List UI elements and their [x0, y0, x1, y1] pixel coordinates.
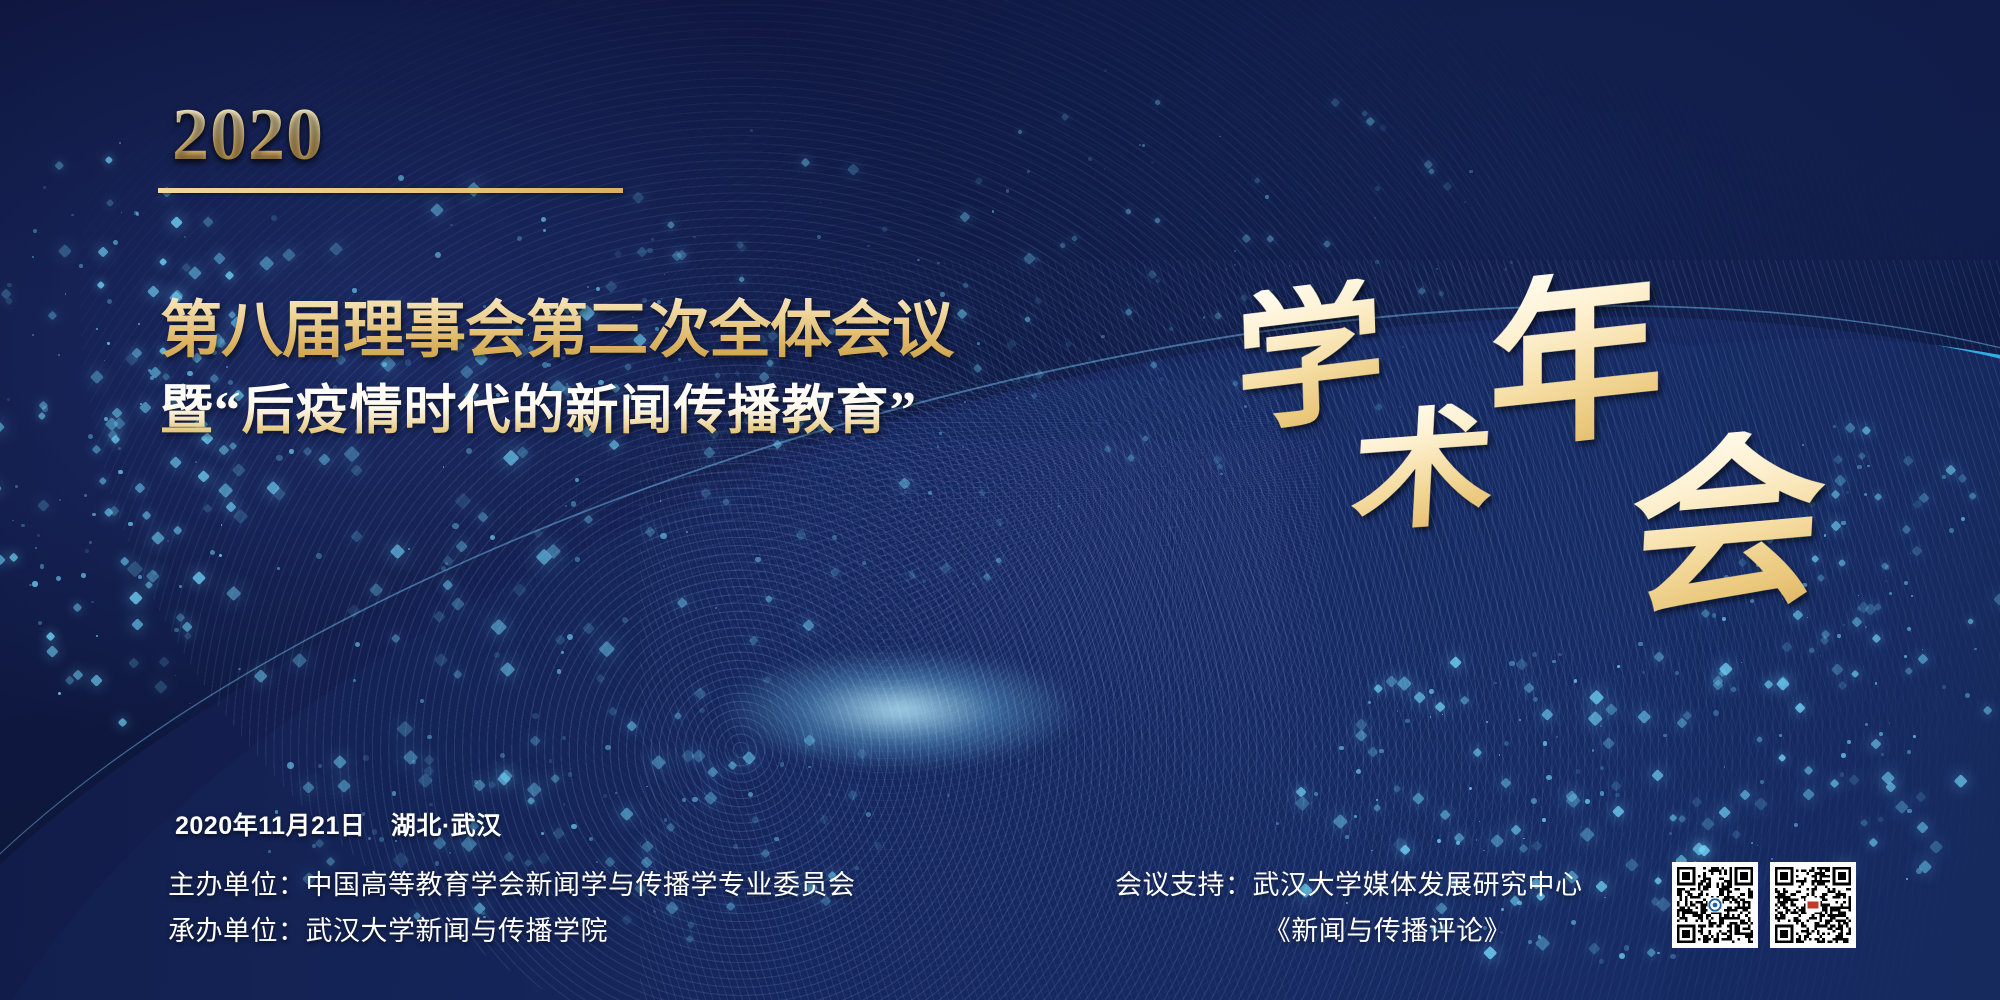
organizer-host-row: 主办单位：中国高等教育学会新闻学与传播学专业委员会	[168, 862, 856, 908]
gold-divider	[158, 188, 623, 193]
support-line-2: 《新闻与传播评论》	[1115, 908, 1660, 954]
calligraphy-char-shu: 术	[1348, 400, 1497, 541]
title-line-2: 第八届理事会第三次全体会议	[160, 295, 1400, 368]
qr-code-group	[1672, 862, 1856, 948]
qr-code-journal[interactable]	[1770, 862, 1856, 948]
calligraphy-block: 学 术 年 会	[1235, 285, 1795, 645]
organizer-info: 主办单位：中国高等教育学会新闻学与传播学专业委员会 承办单位：武汉大学新闻与传播…	[168, 862, 856, 955]
support-info: 会议支持：武汉大学媒体发展研究中心 《新闻与传播评论》	[1115, 862, 1660, 955]
title-line-1: 中国高等教育学会新闻学与传播学专业委员会	[160, 212, 1381, 285]
title-line-3: 暨“后疫情时代的新闻传播教育”	[160, 382, 917, 440]
conference-banner: 2020 中国高等教育学会新闻学与传播学专业委员会 第八届理事会第三次全体会议 …	[0, 0, 2000, 1000]
page-title: 中国高等教育学会新闻学与传播学专业委员会 第八届理事会第三次全体会议	[160, 212, 1400, 367]
organizer-undertaker-row: 承办单位：武汉大学新闻与传播学院	[168, 908, 856, 954]
qr-code-wechat-official[interactable]	[1672, 862, 1758, 948]
calligraphy-char-hui: 会	[1625, 424, 1830, 631]
support-line-1: 会议支持：武汉大学媒体发展研究中心	[1115, 862, 1660, 908]
year-label: 2020	[172, 98, 324, 172]
date-location-text: 2020年11月21日 湖北·武汉	[175, 806, 502, 842]
banner-content: 2020 中国高等教育学会新闻学与传播学专业委员会 第八届理事会第三次全体会议 …	[0, 0, 2000, 1000]
